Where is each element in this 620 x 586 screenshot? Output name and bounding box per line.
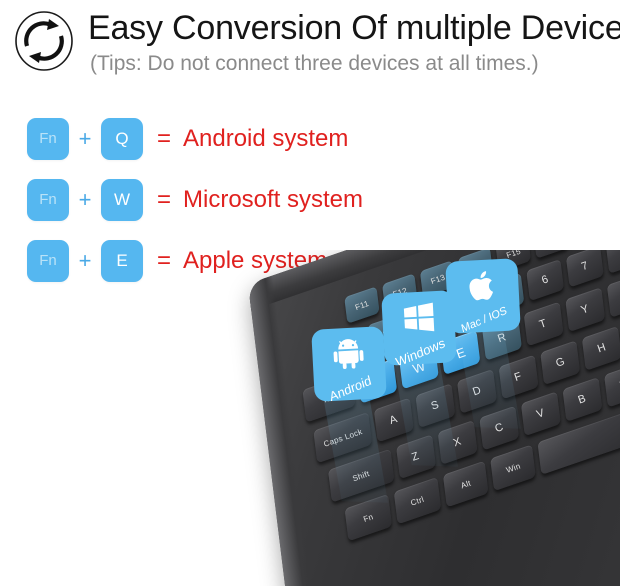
equals-sign: = bbox=[147, 127, 181, 151]
keycap-fn-label: Fn bbox=[39, 130, 57, 147]
badge-windows[interactable]: Windows bbox=[381, 290, 457, 366]
key-v[interactable]: V bbox=[521, 391, 561, 436]
key-6[interactable]: 6 bbox=[526, 259, 564, 301]
key-f11[interactable]: F11 bbox=[344, 286, 379, 323]
key-n[interactable]: N bbox=[604, 363, 620, 408]
system-label-android: Android system bbox=[183, 126, 348, 152]
key-b[interactable]: B bbox=[562, 377, 602, 422]
promo-banner: Easy Conversion Of multiple Devices (Tip… bbox=[0, 0, 620, 586]
key-c[interactable]: C bbox=[479, 406, 519, 451]
key-8[interactable]: 8 bbox=[606, 250, 620, 274]
keycap-q[interactable]: Q bbox=[101, 118, 143, 160]
key-s[interactable]: S bbox=[415, 383, 455, 428]
key-x[interactable]: X bbox=[438, 420, 478, 465]
android-robot-icon bbox=[311, 332, 385, 374]
key-fn[interactable]: Fn bbox=[345, 494, 392, 541]
shortcut-row-microsoft: Fn + W = Microsoft system bbox=[0, 169, 620, 230]
key-y[interactable]: Y bbox=[565, 287, 605, 332]
keycap-fn[interactable]: Fn bbox=[27, 118, 69, 160]
header: Easy Conversion Of multiple Devices (Tip… bbox=[0, 0, 620, 92]
badge-android[interactable]: Android bbox=[311, 326, 387, 402]
badge-macios[interactable]: Mac / IOS bbox=[445, 258, 521, 334]
keycap-q-label: Q bbox=[115, 130, 128, 147]
key-f16[interactable]: F16 bbox=[533, 250, 568, 259]
shortcut-row-android: Fn + Q = Android system bbox=[0, 108, 620, 169]
key-f[interactable]: F bbox=[499, 355, 539, 400]
apple-logo-icon bbox=[445, 264, 519, 306]
windows-logo-icon bbox=[381, 296, 455, 338]
key-a[interactable]: A bbox=[374, 398, 414, 443]
key-7[interactable]: 7 bbox=[566, 250, 604, 287]
plus-sign: + bbox=[69, 189, 101, 211]
keycap-fn[interactable]: Fn bbox=[27, 179, 69, 221]
keycap-w-label: W bbox=[114, 191, 130, 208]
sync-refresh-icon bbox=[10, 10, 78, 72]
key-caps-lock[interactable]: Caps Lock bbox=[313, 412, 372, 463]
plus-sign: + bbox=[69, 128, 101, 150]
equals-sign: = bbox=[147, 188, 181, 212]
key-u[interactable]: U bbox=[607, 273, 620, 318]
key-ctrl[interactable]: Ctrl bbox=[394, 477, 441, 524]
key-h[interactable]: H bbox=[582, 326, 620, 371]
keycap-fn-label: Fn bbox=[39, 191, 57, 208]
keyboard-illustration: F11 F12 F13 F14 F15 F16 1 2 3 4 5 6 7 8 … bbox=[0, 250, 620, 586]
page-title: Easy Conversion Of multiple Devices bbox=[88, 8, 620, 48]
system-label-microsoft: Microsoft system bbox=[183, 187, 363, 213]
key-alt[interactable]: Alt bbox=[443, 461, 489, 508]
key-d[interactable]: D bbox=[457, 369, 497, 414]
page-subtitle: (Tips: Do not connect three devices at a… bbox=[90, 50, 539, 78]
keycap-w[interactable]: W bbox=[101, 179, 143, 221]
key-t[interactable]: T bbox=[524, 302, 564, 347]
key-win[interactable]: Win bbox=[490, 444, 536, 491]
key-z[interactable]: Z bbox=[396, 434, 436, 479]
key-g[interactable]: G bbox=[540, 340, 580, 385]
